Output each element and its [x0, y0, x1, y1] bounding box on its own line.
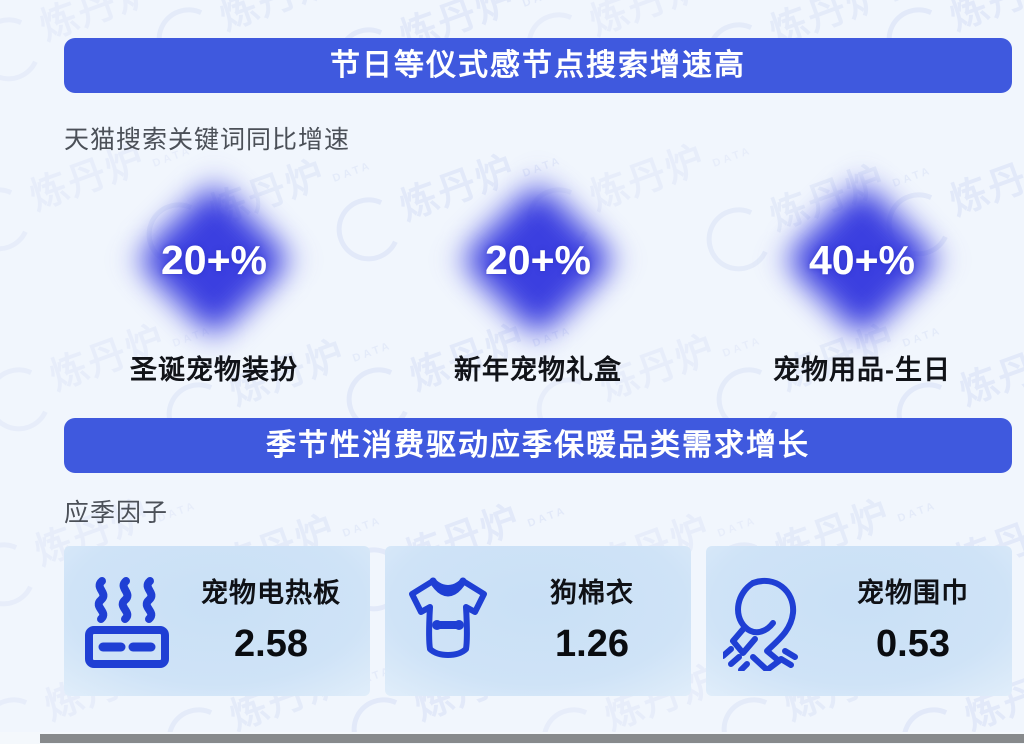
search-metric-item: 40+% 宠物用品-生日	[712, 180, 1012, 400]
diamond-value: 20+%	[161, 240, 267, 281]
diamond-value: 20+%	[485, 240, 591, 281]
horizontal-scrollbar[interactable]	[0, 732, 1024, 744]
factor-text-block: 狗棉衣 1.26	[508, 579, 676, 663]
banner-headline-top: 节日等仪式感节点搜索增速高	[64, 38, 1012, 93]
diamond-label: 新年宠物礼盒	[454, 348, 622, 387]
diamond-label: 宠物用品-生日	[773, 348, 951, 387]
search-metric-item: 20+% 圣诞宠物装扮	[64, 180, 364, 400]
factor-name: 宠物电热板	[201, 579, 341, 609]
factor-text-block: 宠物围巾 0.53	[829, 579, 997, 663]
factor-card: 宠物围巾 0.53	[706, 546, 1012, 696]
factor-value: 2.58	[234, 625, 308, 663]
banner-mid-title: 季节性消费驱动应季保暖品类需求增长	[266, 431, 810, 461]
horizontal-scrollbar-thumb[interactable]	[40, 734, 1024, 743]
search-section-caption: 天猫搜索关键词同比增速	[64, 120, 350, 156]
banner-headline-mid: 季节性消费驱动应季保暖品类需求增长	[64, 418, 1012, 473]
diamond-badge: 40+%	[782, 180, 942, 340]
factor-name: 狗棉衣	[550, 579, 634, 609]
pet-shirt-icon	[400, 569, 496, 673]
factor-card: 狗棉衣 1.26	[385, 546, 691, 696]
diamond-label: 圣诞宠物装扮	[130, 348, 298, 387]
factor-value: 0.53	[876, 625, 950, 663]
search-metric-row: 20+% 圣诞宠物装扮 20+% 新年宠物礼盒 40+% 宠物用品-生日	[64, 180, 1012, 400]
search-metric-item: 20+% 新年宠物礼盒	[388, 180, 688, 400]
seasonal-factor-row: 宠物电热板 2.58 狗棉衣 1.26	[64, 546, 1012, 696]
factor-name: 宠物围巾	[857, 579, 969, 609]
banner-top-title: 节日等仪式感节点搜索增速高	[330, 51, 746, 81]
factor-section-caption: 应季因子	[64, 493, 168, 529]
factor-card: 宠物电热板 2.58	[64, 546, 370, 696]
factor-text-block: 宠物电热板 2.58	[187, 579, 355, 663]
heating-pad-icon	[79, 569, 175, 673]
infographic-canvas: 节日等仪式感节点搜索增速高 天猫搜索关键词同比增速 20+% 圣诞宠物装扮 20…	[0, 0, 1024, 744]
diamond-value: 40+%	[809, 240, 915, 281]
scarf-icon	[721, 569, 817, 673]
diamond-badge: 20+%	[134, 180, 294, 340]
diamond-badge: 20+%	[458, 180, 618, 340]
factor-value: 1.26	[555, 625, 629, 663]
